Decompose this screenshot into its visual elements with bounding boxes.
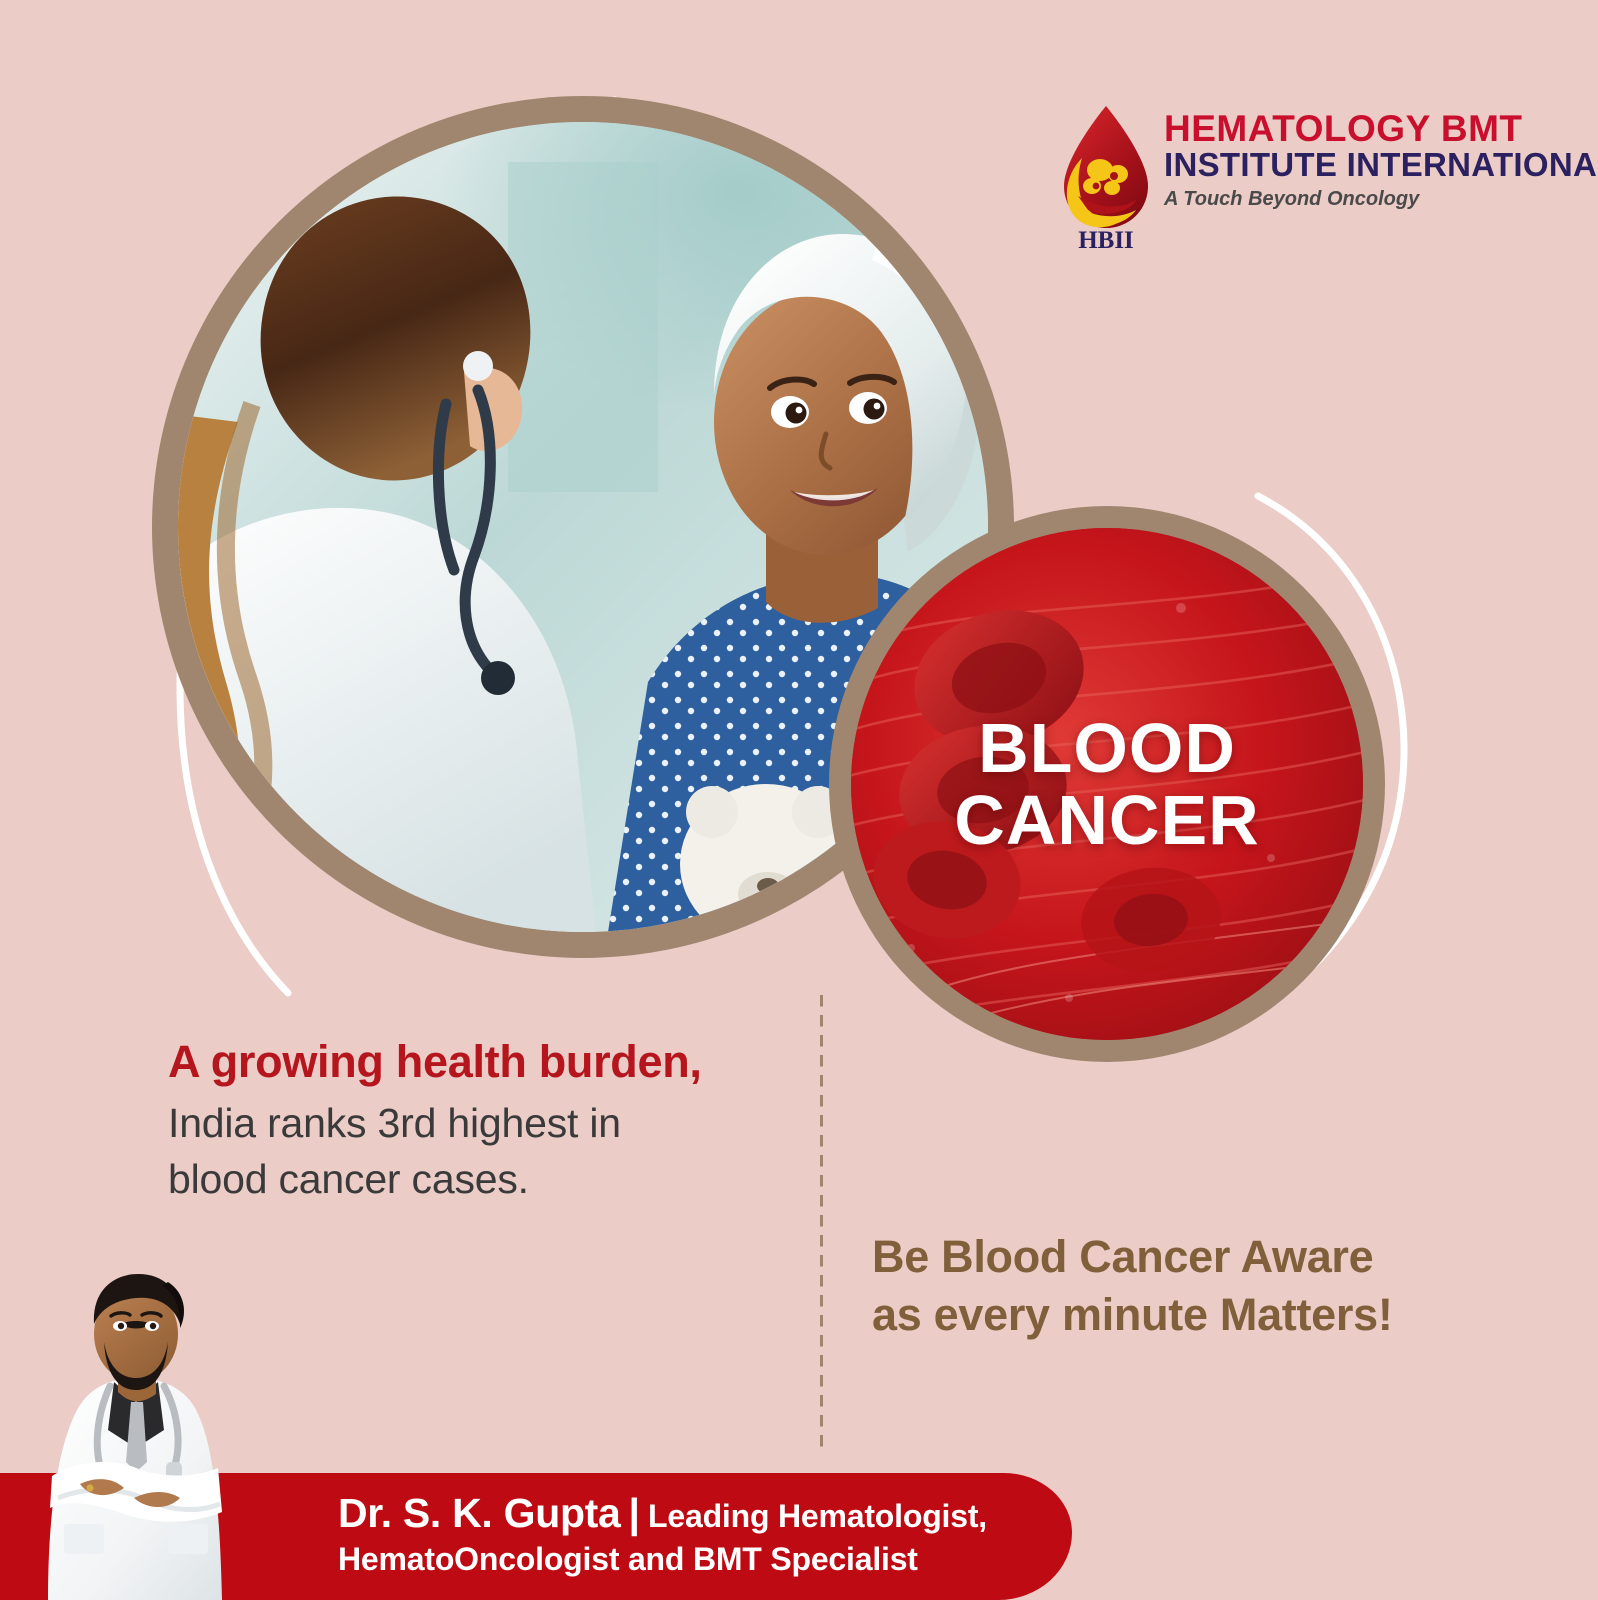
blood-cancer-badge-ring: BLOOD CANCER	[829, 506, 1385, 1062]
poster-canvas: BLOOD CANCER	[0, 0, 1598, 1600]
brand-line-2: INSTITUTE INTERNATIONAL	[1164, 147, 1534, 184]
vertical-dashed-divider	[820, 995, 823, 1447]
right-tagline-block: Be Blood Cancer Aware as every minute Ma…	[872, 1228, 1492, 1343]
credentials-banner-text: Dr. S. K. Gupta|Leading Hematologist, He…	[338, 1487, 1058, 1580]
body-copy-line2: blood cancer cases.	[168, 1151, 808, 1207]
body-copy: India ranks 3rd highest in blood cancer …	[168, 1095, 808, 1207]
doctor-role-line1: Leading Hematologist,	[648, 1498, 987, 1534]
blood-cancer-label: BLOOD CANCER	[829, 712, 1385, 856]
left-copy-block: A growing health burden, India ranks 3rd…	[168, 1036, 808, 1208]
name-role-separator: |	[621, 1490, 648, 1536]
doctor-role-line2: HematoOncologist and BMT Specialist	[338, 1539, 1058, 1580]
brand-line-1: HEMATOLOGY BMT	[1164, 110, 1534, 147]
awareness-tagline: Be Blood Cancer Aware as every minute Ma…	[872, 1228, 1492, 1343]
body-copy-line1: India ranks 3rd highest in	[168, 1095, 808, 1151]
svg-text:HBII: HBII	[1078, 227, 1134, 250]
doctor-portrait	[18, 1262, 253, 1600]
blood-cancer-label-line1: BLOOD	[829, 712, 1385, 784]
awareness-tagline-line1: Be Blood Cancer Aware	[872, 1228, 1492, 1286]
brand-logo-text: HEMATOLOGY BMT INSTITUTE INTERNATIONAL A…	[1164, 110, 1534, 214]
blood-drop-icon: HBII	[1052, 100, 1160, 250]
brand-logo[interactable]: HBII HEMATOLOGY BMT INSTITUTE INTERNATIO…	[1052, 100, 1532, 250]
brand-tagline: A Touch Beyond Oncology	[1164, 184, 1534, 214]
doctor-name: Dr. S. K. Gupta	[338, 1490, 621, 1536]
blood-cancer-label-line2: CANCER	[829, 784, 1385, 856]
headline: A growing health burden,	[168, 1036, 808, 1087]
awareness-tagline-line2: as every minute Matters!	[872, 1286, 1492, 1344]
